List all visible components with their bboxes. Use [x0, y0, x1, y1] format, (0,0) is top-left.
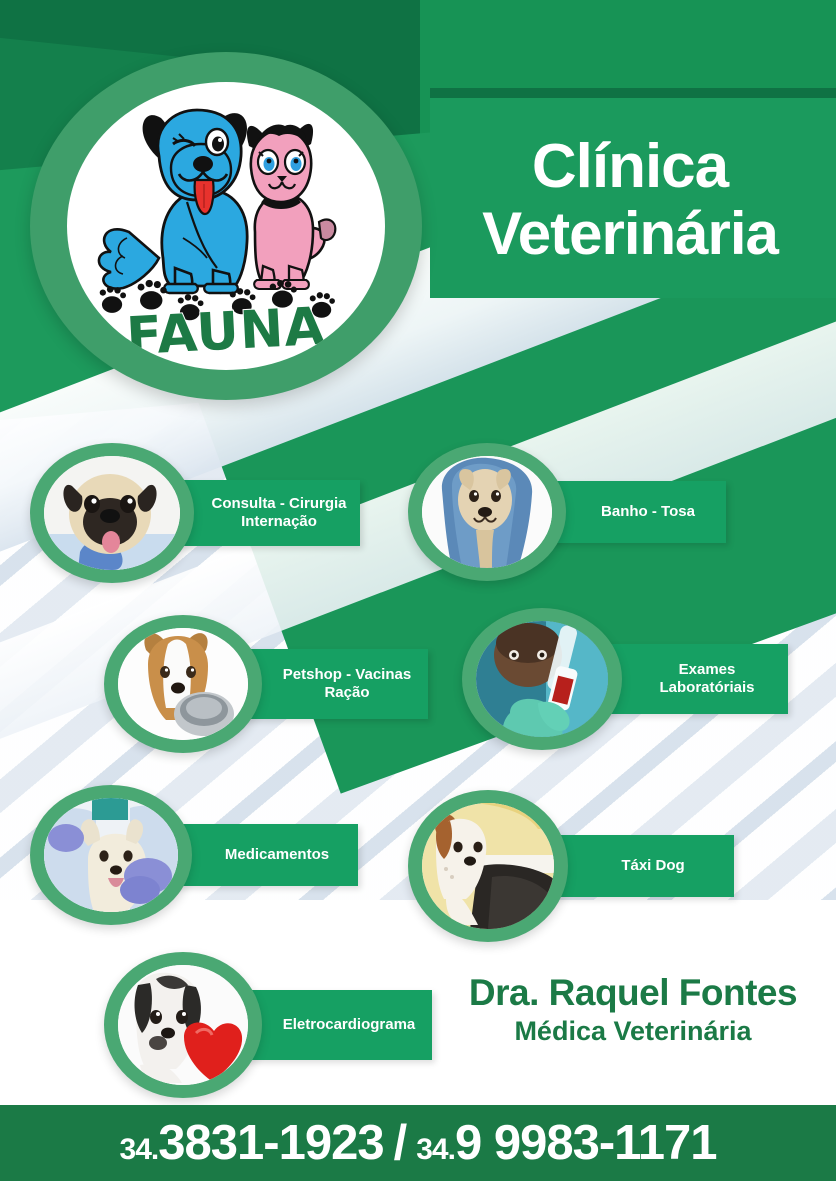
collie-bowl-art — [118, 628, 248, 740]
page-title: Clínica Veterinária — [430, 100, 830, 300]
dog-in-car-photo — [422, 803, 554, 929]
service-label-line1: Exames — [659, 661, 754, 679]
service-photo-ring — [30, 785, 192, 925]
lab-art — [476, 621, 608, 737]
phone2-number: 9 9983-1171 — [455, 1115, 717, 1171]
service-consulta-cirurgia[interactable]: Consulta - Cirurgia Internação — [30, 443, 360, 583]
cat-icon — [247, 124, 335, 289]
car-dog-art — [422, 803, 554, 929]
service-label-line2: Laboratóriais — [659, 679, 754, 697]
pug-being-examined-photo — [44, 456, 180, 570]
service-photo-ring — [408, 790, 568, 942]
logo: FAUNA — [30, 52, 422, 400]
dog-in-blue-towel-photo — [422, 456, 552, 568]
phone2-area-code: 34. — [416, 1133, 455, 1167]
service-photo-ring — [104, 615, 262, 753]
dog-icon — [99, 110, 247, 293]
service-label-line2: Internação — [211, 513, 346, 531]
flyer-canvas: Clínica Veterinária — [0, 0, 836, 1181]
service-medicamentos[interactable]: Medicamentos — [30, 785, 358, 925]
logo-disc: FAUNA — [67, 82, 385, 370]
service-label: Eletrocardiograma — [232, 990, 432, 1060]
service-photo-ring — [408, 443, 566, 581]
contact-footer: 34.3831-1923 / 34.9 9983-1171 — [0, 1105, 836, 1181]
lab-technician-test-tube-photo — [476, 621, 608, 737]
header-line-2: Veterinária — [482, 202, 778, 266]
service-label-line1: Petshop - Vacinas — [283, 666, 411, 684]
service-banho-tosa[interactable]: Banho - Tosa — [408, 443, 726, 581]
service-label-line1: Banho - Tosa — [601, 503, 695, 521]
phone-separator: / — [394, 1115, 407, 1171]
doctor-role: Médica Veterinária — [430, 1016, 836, 1047]
header-band-edge — [430, 88, 836, 98]
service-exames-laboratoriais[interactable]: Exames Laboratóriais — [462, 608, 788, 750]
service-label-line1: Medicamentos — [225, 846, 329, 864]
doctor-name: Dra. Raquel Fontes — [430, 972, 836, 1014]
towel-dog-art — [422, 456, 552, 568]
pug-photo-art — [44, 456, 180, 570]
service-photo-ring — [30, 443, 194, 583]
service-label-line2: Ração — [283, 684, 411, 702]
service-label-line1: Táxi Dog — [621, 857, 684, 875]
phone1-area-code: 34. — [120, 1133, 159, 1167]
vet-puppy-art — [44, 798, 178, 912]
service-label-line1: Eletrocardiograma — [283, 1016, 416, 1034]
service-petshop-vacinas[interactable]: Petshop - Vacinas Ração — [104, 615, 428, 753]
service-label-line1: Consulta - Cirurgia — [211, 495, 346, 513]
phone1-number: 3831-1923 — [158, 1115, 383, 1171]
service-taxi-dog[interactable]: Táxi Dog — [408, 790, 734, 942]
vet-with-puppy-photo — [44, 798, 178, 912]
collie-with-food-bowl-photo — [118, 628, 248, 740]
doctor-block: Dra. Raquel Fontes Médica Veterinária — [430, 972, 836, 1047]
service-eletrocardiograma[interactable]: Eletrocardiograma — [104, 952, 432, 1098]
service-photo-ring — [462, 608, 622, 750]
puppy-with-red-heart-photo — [118, 965, 248, 1085]
phone-numbers[interactable]: 34.3831-1923 / 34.9 9983-1171 — [120, 1115, 717, 1171]
header-line-1: Clínica — [532, 134, 728, 200]
heart-puppy-art — [118, 965, 248, 1085]
service-photo-ring — [104, 952, 262, 1098]
